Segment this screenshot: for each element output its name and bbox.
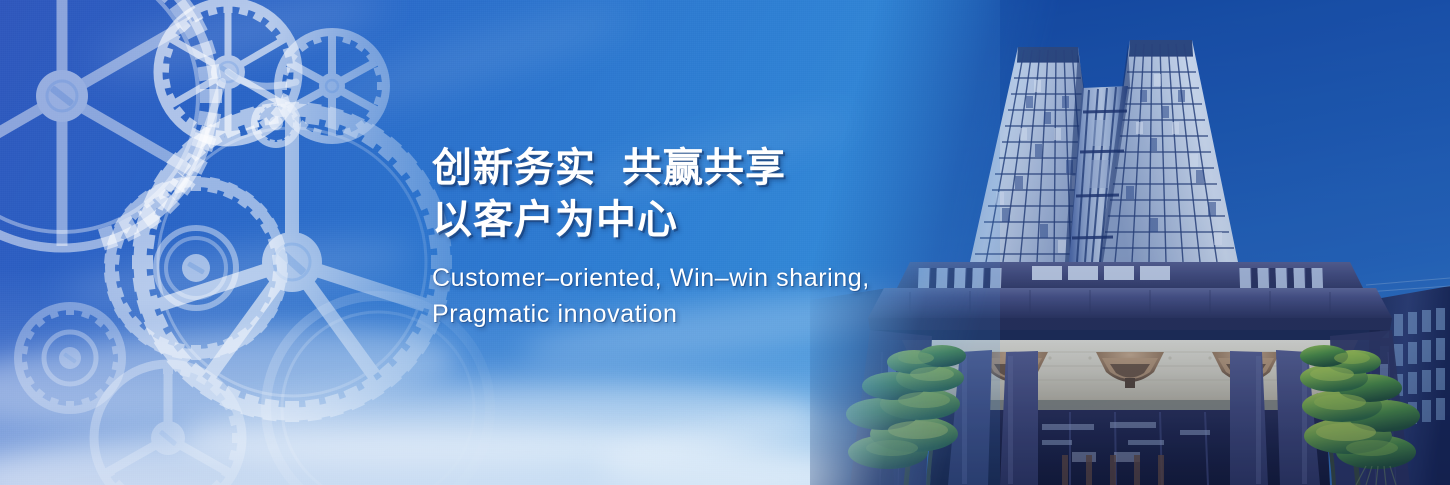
banner-copy: 创新务实共赢共享 以客户为中心 Customer–oriented, Win–w…: [432, 142, 952, 332]
headline-line-1-right: 共赢共享: [622, 145, 786, 191]
headline-line-2: 以客户为中心: [432, 194, 952, 246]
headline-line-1-left: 创新务实: [432, 145, 596, 191]
headline-line-1: 创新务实共赢共享: [432, 142, 952, 194]
subheadline-line-2: Pragmatic innovation: [432, 296, 952, 332]
hero-banner: 创新务实共赢共享 以客户为中心 Customer–oriented, Win–w…: [0, 0, 1450, 485]
subheadline-group: Customer–oriented, Win–win sharing, Prag…: [432, 260, 952, 332]
subheadline-line-1: Customer–oriented, Win–win sharing,: [432, 260, 952, 296]
